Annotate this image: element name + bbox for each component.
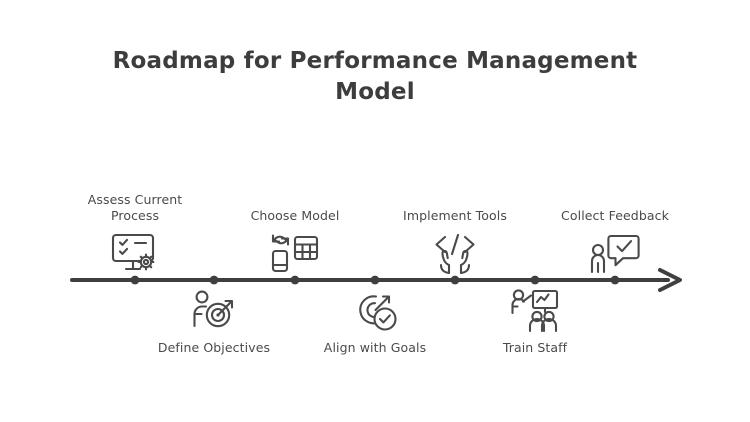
timeline-dot[interactable] (131, 276, 140, 285)
milestone-3[interactable]: Choose Model (220, 208, 370, 276)
timeline-dot[interactable] (291, 276, 300, 285)
target-check-icon (346, 288, 404, 334)
milestone-6[interactable]: Train Staff (460, 288, 610, 356)
milestone-label: Implement Tools (403, 208, 507, 224)
milestone-5[interactable]: Implement Tools (380, 208, 530, 276)
milestone-label: Choose Model (251, 208, 340, 224)
milestone-label: Assess Current Process (88, 192, 183, 224)
timeline-dot[interactable] (611, 276, 620, 285)
milestone-label: Align with Goals (324, 340, 426, 356)
presenter-audience-icon (506, 288, 564, 334)
timeline-dot[interactable] (451, 276, 460, 285)
person-target-icon (185, 288, 243, 334)
code-brackets-hands-icon (426, 230, 484, 276)
timeline-dot[interactable] (371, 276, 380, 285)
roadmap-infographic: Roadmap for Performance Management Model… (0, 0, 750, 422)
timeline-dot[interactable] (531, 276, 540, 285)
person-speech-bubble-check-icon (586, 230, 644, 276)
timeline-dot[interactable] (210, 276, 219, 285)
milestone-4[interactable]: Align with Goals (300, 288, 450, 356)
page-title: Roadmap for Performance Management Model (0, 46, 750, 108)
milestone-1[interactable]: Assess Current Process (60, 192, 210, 276)
checklist-screen-gear-icon (106, 230, 164, 276)
milestone-7[interactable]: Collect Feedback (540, 208, 690, 276)
milestone-label: Train Staff (503, 340, 567, 356)
swap-arrow-grid-icon (266, 230, 324, 276)
milestone-2[interactable]: Define Objectives (139, 288, 289, 356)
milestone-label: Collect Feedback (561, 208, 669, 224)
milestone-label: Define Objectives (158, 340, 270, 356)
